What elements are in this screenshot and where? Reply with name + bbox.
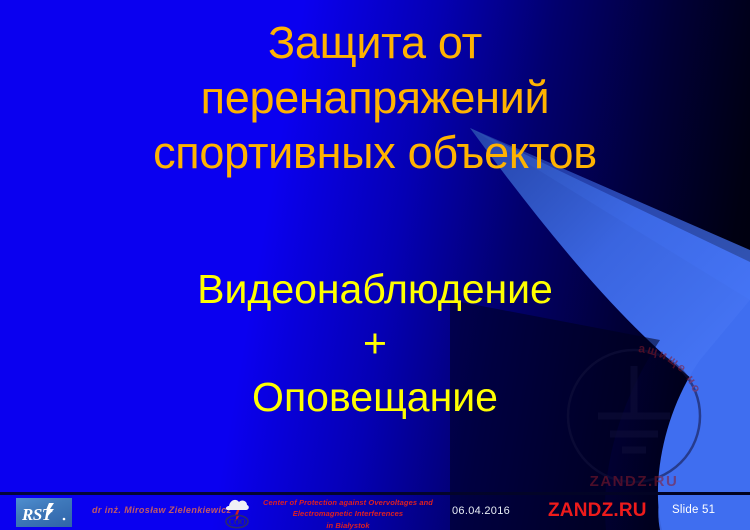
- slide-date: 06.04.2016: [452, 505, 510, 517]
- center-name-line-3: in Białystok: [258, 520, 438, 530]
- cloud-lightning-logo: COO: [220, 496, 254, 529]
- svg-text:COO: COO: [229, 518, 246, 527]
- center-name: Center of Protection against Overvoltage…: [258, 497, 438, 530]
- slide-title-line-1: Защита от: [30, 16, 720, 71]
- slide-subtitle-line-1: Видеонаблюдение: [30, 262, 720, 316]
- slide-footer: RST dr inż. Mirosław Zielenkiewicz COO C…: [0, 495, 750, 530]
- slide-subtitle-line-2: +: [30, 316, 720, 370]
- slide-title-line-2: перенапряжений: [30, 71, 720, 126]
- slide-number: Slide 51: [672, 504, 715, 516]
- slide-subtitle-line-3: Оповещание: [30, 370, 720, 424]
- rst-logo: RST: [16, 498, 72, 527]
- rst-logo-mark: RST: [19, 501, 69, 525]
- slide-subtitle: Видеонаблюдение + Оповещание: [30, 262, 720, 424]
- center-name-line-2: Electromagnetic Interferences: [258, 508, 438, 519]
- author-name: dr inż. Mirosław Zielenkiewicz: [92, 505, 232, 515]
- presentation-slide: ащище но ZANDZ.RU Защита от перенапряжен…: [0, 0, 750, 530]
- slide-title: Защита от перенапряжений спортивных объе…: [30, 16, 720, 181]
- watermark-brand-text: ZANDZ.RU: [590, 473, 679, 490]
- center-name-line-1: Center of Protection against Overvoltage…: [258, 497, 438, 508]
- zandz-brand-label: ZANDZ.RU: [548, 500, 647, 522]
- slide-title-line-3: спортивных объектов: [30, 126, 720, 181]
